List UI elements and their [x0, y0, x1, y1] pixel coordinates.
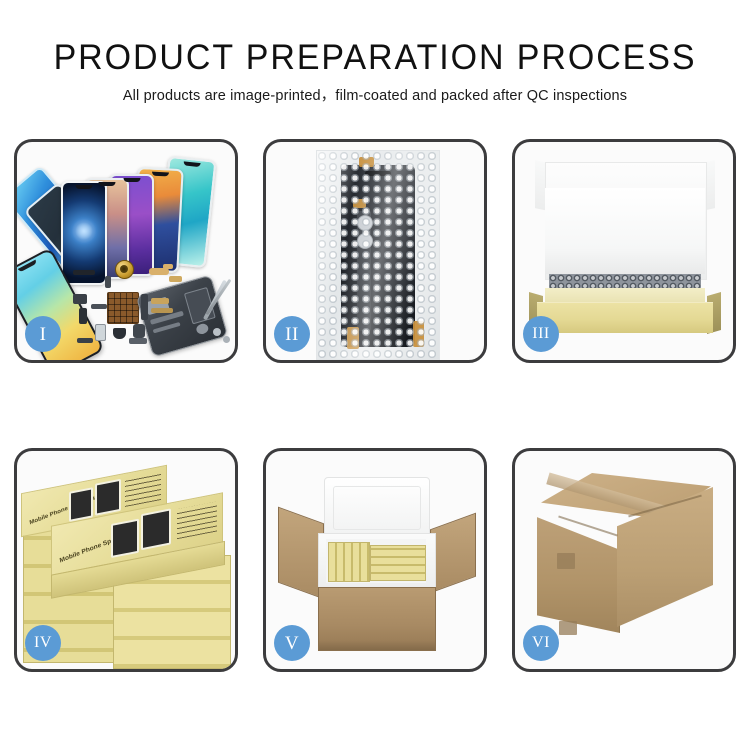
- spare-part: [163, 264, 173, 269]
- foam-liner: [545, 188, 705, 274]
- spare-part: [73, 270, 95, 275]
- box-art-screen: [95, 479, 121, 516]
- plastic-sheen: [317, 151, 439, 359]
- styrofoam-lid: [324, 477, 430, 539]
- box-art-screen: [111, 519, 139, 558]
- process-step-1: I: [14, 139, 238, 363]
- page-title: PRODUCT PREPARATION PROCESS: [11, 36, 739, 80]
- housing-detail: [195, 322, 209, 335]
- yellow-boxes-left: [328, 542, 370, 582]
- process-step-grid: I II: [14, 139, 736, 672]
- header: PRODUCT PREPARATION PROCESS All products…: [0, 36, 750, 106]
- box-art-screen: [141, 508, 171, 550]
- page-subtitle: All products are image-printed，film-coat…: [0, 86, 750, 106]
- process-step-5: V: [263, 448, 487, 672]
- phone-back-housing: [136, 274, 229, 357]
- spare-part: [77, 338, 93, 343]
- step-badge-6: VI: [523, 625, 559, 661]
- notch-icon: [76, 185, 93, 189]
- process-step-6: VI: [512, 448, 736, 672]
- process-step-3: III: [512, 139, 736, 363]
- notch-icon: [99, 182, 116, 186]
- spare-part: [129, 338, 147, 344]
- spare-part: [213, 328, 221, 336]
- process-step-2: II: [263, 139, 487, 363]
- spare-part: [91, 304, 107, 309]
- process-step-4: Mobile Phone Spare Parts Mobile Phone Sp…: [14, 448, 238, 672]
- box-front-yellow: [537, 302, 713, 333]
- bubble-wrap-bag: [316, 150, 440, 360]
- styrofoam-interior: [326, 539, 426, 583]
- step-badge-1: I: [25, 316, 61, 352]
- box-art-screen: [69, 487, 93, 522]
- step-badge-3: III: [523, 316, 559, 352]
- step-badge-4: IV: [25, 625, 61, 661]
- notch-icon: [123, 178, 140, 182]
- notch-icon: [183, 161, 200, 167]
- step-badge-5: V: [274, 625, 310, 661]
- speaker-part-icon: [115, 260, 134, 279]
- spare-part: [113, 328, 126, 339]
- spare-part: [151, 308, 173, 313]
- carton-tab: [559, 621, 577, 635]
- spare-part: [169, 276, 182, 282]
- carton-left-face: [537, 507, 620, 633]
- carton-tab: [557, 553, 575, 569]
- spare-part: [223, 336, 230, 343]
- spare-part: [95, 324, 106, 341]
- spare-part: [73, 294, 87, 304]
- spare-part: [149, 268, 169, 275]
- step-badge-2: II: [274, 316, 310, 352]
- spare-part: [79, 308, 87, 324]
- notch-icon: [152, 172, 169, 177]
- yellow-boxes-right: [370, 545, 426, 581]
- product-preparation-infographic: PRODUCT PREPARATION PROCESS All products…: [0, 0, 750, 750]
- chip-grid-part: [107, 292, 139, 324]
- housing-detail: [153, 322, 181, 334]
- spare-part: [151, 298, 169, 304]
- spare-part: [141, 294, 148, 320]
- spare-part: [105, 276, 111, 288]
- carton-front: [318, 587, 436, 651]
- spare-part: [133, 324, 145, 338]
- carton-flap-right: [430, 513, 476, 594]
- notch-icon: [18, 260, 38, 273]
